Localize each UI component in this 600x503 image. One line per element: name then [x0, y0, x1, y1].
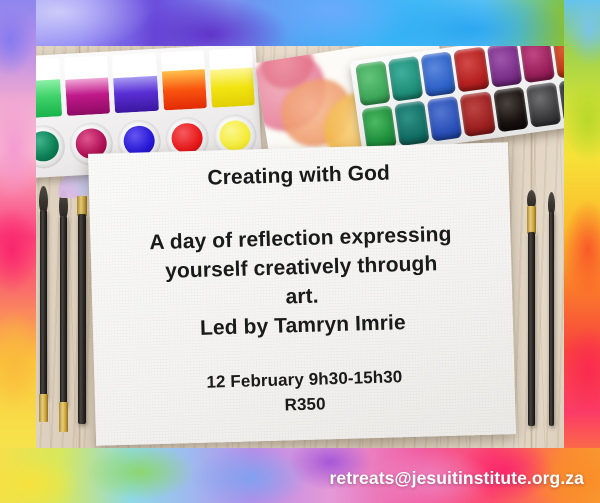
paint-pan: [427, 96, 463, 142]
brush-ferrule: [527, 206, 536, 234]
paint-pan: [460, 91, 496, 137]
paint-pan: [486, 42, 522, 88]
palette-well: [112, 53, 158, 113]
brush-round-right-1: [528, 190, 535, 426]
watercolor-border-top: [0, 0, 600, 46]
contact-email[interactable]: retreats@jesuitinstitute.org.za: [329, 468, 584, 489]
brush-handle: [40, 210, 47, 398]
brush-handle: [549, 212, 554, 426]
brush-fan-left: [78, 168, 86, 424]
brush-handle: [60, 216, 67, 406]
palette-well: [64, 56, 110, 116]
brush-thin-left-1: [40, 186, 47, 422]
paint-pan: [388, 56, 424, 102]
poster-text-block: Creating with God A day of reflection ex…: [88, 142, 516, 446]
brush-liner-right: [549, 192, 554, 426]
page-title: Creating with God: [88, 158, 509, 194]
palette-well: [160, 50, 206, 110]
brush-handle: [528, 232, 535, 426]
white-paper-card: Creating with God A day of reflection ex…: [88, 142, 516, 446]
poster-body-lines: A day of reflection expressing yourself …: [90, 218, 512, 317]
paint-pan: [493, 87, 529, 133]
brush-ferrule: [59, 402, 68, 432]
paint-pan: [525, 82, 561, 128]
palette-well: [209, 47, 255, 107]
brush-handle: [78, 214, 86, 424]
poster-canvas: Creating with God A day of reflection ex…: [0, 0, 600, 503]
brush-tip-icon: [39, 186, 48, 212]
watercolor-border-right: [564, 0, 600, 503]
brush-thin-left-2: [60, 190, 67, 432]
brush-tip-icon: [548, 192, 555, 214]
paint-pan: [454, 47, 490, 93]
paint-pan: [355, 60, 391, 106]
palette-rect-wells: [16, 47, 255, 118]
brush-ferrule: [39, 394, 48, 422]
paint-pan: [394, 100, 430, 146]
watercolor-border-left: [0, 0, 36, 503]
brush-ferrule: [77, 196, 87, 216]
paint-pan: [421, 51, 457, 97]
paint-pan: [361, 105, 397, 151]
